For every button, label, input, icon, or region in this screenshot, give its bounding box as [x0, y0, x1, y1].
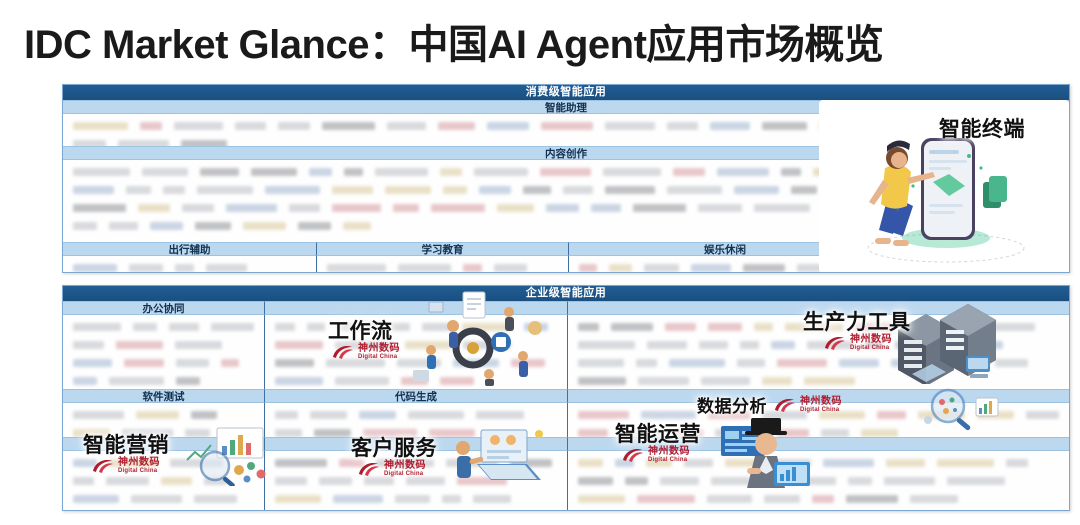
vendor-logo-placeholder [947, 477, 1005, 485]
vendor-logo-placeholder [781, 168, 801, 176]
vendor-logo-placeholder [846, 495, 898, 503]
vendor-logo-placeholder [821, 429, 849, 437]
vendor-logo-placeholder [278, 122, 310, 130]
consumer-column-education [317, 256, 569, 273]
vendor-logo-placeholder [615, 459, 634, 467]
vendor-logo-placeholder [494, 264, 527, 272]
vendor-logo-placeholder [109, 459, 158, 467]
vendor-logo-placeholder [524, 323, 548, 331]
vendor-logo-placeholder [737, 359, 765, 367]
vendor-logo-placeholder [440, 377, 474, 385]
vendor-logo-placeholder [136, 411, 179, 419]
enterprise-section-header: 企业级智能应用 [63, 286, 1069, 301]
vendor-logo-placeholder [807, 341, 853, 349]
vendor-logo-placeholder [133, 323, 157, 331]
enterprise-applications-panel: 企业级智能应用 办公协同 软件测试 代码生成 [62, 285, 1070, 511]
vendor-logo-placeholder [473, 495, 511, 503]
vendor-logo-placeholder [73, 411, 124, 419]
vendor-logo-placeholder [647, 341, 687, 349]
vendor-logo-placeholder [197, 186, 253, 194]
vendor-logo-placeholder [937, 459, 994, 467]
vendor-logo-placeholder [176, 359, 209, 367]
vendor-logo-placeholder [163, 186, 185, 194]
vendor-logo-placeholder [170, 459, 223, 467]
vendor-logo-placeholder [191, 411, 217, 419]
enterprise-row-3-logos [63, 451, 1069, 511]
vendor-logo-placeholder [431, 204, 485, 212]
vendor-logo-placeholder [646, 459, 672, 467]
vendor-logo-placeholder [243, 222, 286, 230]
vendor-logo-placeholder [363, 429, 417, 437]
vendor-logo-placeholder [804, 477, 836, 485]
vendor-logo-placeholder [309, 168, 332, 176]
consumer-band-travel: 出行辅助 [63, 242, 317, 256]
vendor-logo-placeholder [395, 495, 430, 503]
vendor-logo-placeholder [711, 477, 750, 485]
vendor-logo-placeholder [839, 359, 879, 367]
vendor-logo-placeholder [725, 459, 764, 467]
consumer-section-header: 消费级智能应用 [63, 85, 1069, 100]
vendor-logo-placeholder [674, 429, 703, 437]
vendor-logo-placeholder [776, 459, 811, 467]
vendor-logo-placeholder [977, 411, 1014, 419]
vendor-logo-placeholder [73, 377, 97, 385]
vendor-logo-placeholder [701, 377, 750, 385]
vendor-logo-placeholder [605, 122, 655, 130]
enterprise-band-software-testing: 软件测试 [63, 389, 265, 403]
vendor-logo-placeholder [476, 411, 524, 419]
vendor-logo-placeholder [109, 222, 138, 230]
vendor-logo-placeholder [438, 122, 475, 130]
vendor-logo-placeholder [910, 495, 958, 503]
vendor-logo-placeholder [762, 377, 792, 385]
vendor-logo-placeholder [1006, 459, 1028, 467]
vendor-logo-placeholder [326, 359, 385, 367]
enterprise-col-3-r1 [568, 315, 1069, 389]
vendor-logo-placeholder [633, 204, 686, 212]
vendor-logo-placeholder [660, 477, 699, 485]
vendor-logo-placeholder [708, 323, 742, 331]
vendor-logo-placeholder [73, 323, 121, 331]
vendor-logo-placeholder [116, 341, 163, 349]
vendor-logo-placeholder [625, 477, 648, 485]
vendor-logo-placeholder [463, 264, 482, 272]
vendor-logo-placeholder [578, 477, 613, 485]
vendor-logo-placeholder [298, 222, 331, 230]
vendor-logo-placeholder [385, 186, 431, 194]
vendor-logo-placeholder [641, 411, 696, 419]
vendor-logo-placeholder [812, 495, 834, 503]
vendor-logo-placeholder [73, 122, 128, 130]
vendor-logo-placeholder [393, 204, 419, 212]
enterprise-band-r1-c2 [265, 301, 568, 315]
vendor-logo-placeholder [886, 459, 925, 467]
vendor-logo-placeholder [406, 477, 445, 485]
vendor-logo-placeholder [138, 204, 170, 212]
vendor-logo-placeholder [73, 459, 97, 467]
vendor-logo-placeholder [73, 477, 94, 485]
vendor-logo-placeholder [579, 264, 597, 272]
vendor-logo-placeholder [453, 359, 499, 367]
vendor-logo-placeholder [387, 122, 426, 130]
vendor-logo-placeholder [275, 359, 314, 367]
vendor-logo-placeholder [457, 477, 507, 485]
vendor-logo-placeholder [176, 377, 200, 385]
vendor-logo-placeholder [804, 377, 855, 385]
vendor-logo-placeholder [638, 377, 689, 385]
vendor-logo-placeholder [563, 186, 593, 194]
vendor-logo-placeholder [307, 323, 325, 331]
vendor-logo-placeholder [73, 204, 126, 212]
vendor-logo-placeholder [510, 459, 552, 467]
page-title: IDC Market Glance：中国AI Agent应用市场概览 [24, 12, 1064, 70]
vendor-logo-placeholder [578, 341, 635, 349]
vendor-logo-placeholder [644, 264, 679, 272]
enterprise-band-r3-c1 [63, 437, 265, 451]
enterprise-row-1-logos [63, 315, 1069, 389]
vendor-logo-placeholder [950, 323, 978, 331]
vendor-logo-placeholder [150, 222, 183, 230]
vendor-logo-placeholder [359, 411, 396, 419]
vendor-logo-placeholder [578, 495, 625, 503]
vendor-logo-placeholder [398, 264, 451, 272]
vendor-logo-placeholder [442, 495, 461, 503]
vendor-logo-placeholder [142, 168, 188, 176]
vendor-logo-placeholder [905, 323, 938, 331]
vendor-logo-placeholder [401, 377, 428, 385]
vendor-logo-placeholder [337, 323, 378, 331]
vendor-logo-placeholder [541, 122, 593, 130]
vendor-logo-placeholder [185, 429, 210, 437]
vendor-logo-placeholder [620, 429, 662, 437]
enterprise-band-code-generation: 代码生成 [265, 389, 568, 403]
vendor-logo-placeholder [942, 359, 983, 367]
vendor-logo-placeholder [771, 341, 795, 349]
vendor-logo-placeholder [106, 477, 149, 485]
vendor-logo-placeholder [764, 495, 800, 503]
enterprise-band-r1-c3 [568, 301, 1069, 315]
vendor-logo-placeholder [73, 341, 104, 349]
vendor-logo-placeholder [251, 168, 297, 176]
vendor-logo-placeholder [1026, 411, 1059, 419]
vendor-logo-placeholder [124, 359, 164, 367]
vendor-logo-placeholder [669, 359, 725, 367]
vendor-logo-placeholder [397, 359, 441, 367]
vendor-logo-placeholder [578, 411, 629, 419]
vendor-logo-placeholder [181, 140, 227, 146]
vendor-logo-placeholder [891, 359, 930, 367]
vendor-logo-placeholder [446, 459, 498, 467]
vendor-logo-placeholder [443, 186, 467, 194]
vendor-logo-placeholder [479, 186, 511, 194]
enterprise-col-2-r2 [265, 403, 568, 437]
vendor-logo-placeholder [289, 204, 320, 212]
vendor-logo-placeholder [578, 429, 608, 437]
vendor-logo-placeholder [474, 168, 528, 176]
enterprise-band-row-1: 办公协同 [63, 301, 1069, 315]
vendor-logo-placeholder [375, 168, 428, 176]
vendor-logo-placeholder [463, 341, 511, 349]
vendor-logo-placeholder [310, 411, 347, 419]
enterprise-row-2-logos [63, 403, 1069, 437]
vendor-logo-placeholder [73, 168, 130, 176]
vendor-logo-placeholder [226, 204, 277, 212]
vendor-logo-placeholder [848, 477, 872, 485]
enterprise-col-2-r3 [265, 451, 568, 511]
vendor-logo-placeholder [462, 323, 512, 331]
vendor-logo-placeholder [609, 264, 632, 272]
vendor-logo-placeholder [235, 122, 266, 130]
vendor-logo-placeholder [327, 264, 386, 272]
vendor-logo-placeholder [591, 204, 621, 212]
consumer-applications-panel: 消费级智能应用 智能助理 内容创作 出行辅助 学习教育 娱乐休闲 [62, 84, 1070, 273]
vendor-logo-placeholder [578, 323, 599, 331]
vendor-logo-placeholder [855, 323, 893, 331]
vendor-logo-placeholder [275, 429, 302, 437]
vendor-logo-placeholder [343, 222, 371, 230]
vendor-logo-placeholder [637, 495, 695, 503]
vendor-logo-placeholder [200, 168, 239, 176]
vendor-logo-placeholder [578, 359, 624, 367]
vendor-logo-placeholder [376, 459, 434, 467]
vendor-logo-placeholder [708, 411, 750, 419]
vendor-logo-placeholder [667, 122, 698, 130]
vendor-logo-placeholder [221, 359, 239, 367]
vendor-logo-placeholder [73, 186, 114, 194]
enterprise-col-1-r2 [63, 403, 265, 437]
vendor-logo-placeholder [122, 429, 173, 437]
vendor-logo-placeholder [673, 168, 705, 176]
vendor-logo-placeholder [118, 140, 169, 146]
vendor-logo-placeholder [73, 140, 106, 146]
vendor-logo-placeholder [762, 477, 792, 485]
vendor-logo-placeholder [990, 323, 1035, 331]
vendor-logo-placeholder [335, 377, 389, 385]
vendor-logo-placeholder [762, 122, 807, 130]
vendor-logo-placeholder [314, 429, 351, 437]
vendor-logo-placeholder [995, 359, 1028, 367]
vendor-logo-placeholder [546, 204, 579, 212]
vendor-logo-placeholder [206, 264, 247, 272]
vendor-logo-placeholder [603, 168, 661, 176]
vendor-logo-placeholder [605, 186, 655, 194]
vendor-logo-placeholder [707, 495, 752, 503]
vendor-logo-placeholder [762, 411, 807, 419]
vendor-logo-placeholder [275, 377, 323, 385]
vendor-logo-placeholder [877, 411, 906, 419]
vendor-logo-placeholder [174, 122, 223, 130]
vendor-logo-placeholder [918, 411, 965, 419]
vendor-logo-placeholder [194, 495, 237, 503]
vendor-logo-placeholder [332, 204, 381, 212]
vendor-logo-placeholder [740, 341, 759, 349]
vendor-logo-placeholder [715, 429, 765, 437]
vendor-logo-placeholder [684, 459, 713, 467]
vendor-logo-placeholder [819, 411, 865, 419]
vendor-logo-placeholder [429, 429, 475, 437]
vendor-logo-placeholder [942, 341, 966, 349]
vendor-logo-placeholder [540, 168, 591, 176]
enterprise-col-3-r2 [568, 403, 1069, 437]
vendor-logo-placeholder [109, 377, 164, 385]
vendor-logo-placeholder [405, 341, 451, 349]
vendor-logo-placeholder [777, 429, 809, 437]
vendor-logo-placeholder [175, 264, 194, 272]
vendor-logo-placeholder [335, 341, 393, 349]
vendor-logo-placeholder [169, 323, 199, 331]
vendor-logo-placeholder [578, 459, 603, 467]
vendor-logo-placeholder [636, 359, 657, 367]
vendor-logo-placeholder [332, 186, 373, 194]
vendor-logo-placeholder [777, 359, 827, 367]
vendor-logo-placeholder [861, 429, 898, 437]
vendor-logo-placeholder [743, 264, 785, 272]
vendor-logo-placeholder [265, 186, 320, 194]
vendor-logo-placeholder [129, 264, 163, 272]
vendor-logo-placeholder [140, 122, 162, 130]
vendor-logo-placeholder [691, 264, 731, 272]
vendor-logo-placeholder [339, 459, 364, 467]
vendor-logo-placeholder [698, 204, 742, 212]
vendor-logo-placeholder [319, 477, 352, 485]
vendor-logo-placeholder [275, 411, 298, 419]
vendor-logo-placeholder [823, 459, 874, 467]
vendor-logo-placeholder [523, 186, 551, 194]
vendor-logo-placeholder [390, 323, 410, 331]
enterprise-band-office-collab: 办公协同 [63, 301, 265, 315]
vendor-logo-placeholder [73, 359, 112, 367]
vendor-logo-placeholder [195, 222, 231, 230]
vendor-logo-placeholder [131, 495, 182, 503]
vendor-logo-placeholder [440, 168, 462, 176]
enterprise-col-1-r1 [63, 315, 265, 389]
vendor-logo-placeholder [734, 186, 779, 194]
vendor-logo-placeholder [275, 495, 321, 503]
vendor-logo-placeholder [211, 323, 254, 331]
vendor-logo-placeholder [497, 204, 534, 212]
vendor-logo-placeholder [487, 122, 529, 130]
vendor-logo-placeholder [710, 122, 750, 130]
vendor-logo-placeholder [865, 341, 883, 349]
vendor-logo-placeholder [511, 359, 545, 367]
vendor-logo-placeholder [791, 186, 817, 194]
vendor-logo-placeholder [161, 477, 192, 485]
vendor-logo-placeholder [578, 377, 626, 385]
vendor-logo-placeholder [717, 168, 769, 176]
enterprise-band-r3-c2 [265, 437, 568, 451]
vendor-logo-placeholder [275, 341, 323, 349]
vendor-logo-placeholder [73, 429, 110, 437]
vendor-logo-placeholder [611, 323, 653, 331]
vendor-logo-placeholder [667, 186, 722, 194]
vendor-logo-placeholder [73, 495, 119, 503]
enterprise-col-2-r1 [265, 315, 568, 389]
vendor-logo-placeholder [754, 204, 810, 212]
enterprise-band-row-2: 软件测试 代码生成 [63, 389, 1069, 403]
enterprise-band-r2-c3 [568, 389, 1069, 403]
vendor-logo-placeholder [275, 323, 295, 331]
enterprise-band-r3-c3 [568, 437, 1069, 451]
vendor-logo-placeholder [182, 204, 214, 212]
vendor-logo-placeholder [978, 341, 1003, 349]
vendor-logo-placeholder [175, 341, 222, 349]
vendor-logo-placeholder [275, 459, 327, 467]
enterprise-band-row-3 [63, 437, 1069, 451]
consumer-column-travel [63, 256, 317, 273]
smart-terminal-card [819, 100, 1069, 273]
vendor-logo-placeholder [665, 323, 696, 331]
vendor-logo-placeholder [408, 411, 464, 419]
vendor-logo-placeholder [333, 495, 383, 503]
enterprise-col-1-r3 [63, 451, 265, 511]
enterprise-col-3-r3 [568, 451, 1069, 511]
vendor-logo-placeholder [895, 341, 930, 349]
vendor-logo-placeholder [344, 168, 363, 176]
vendor-logo-placeholder [754, 323, 773, 331]
vendor-logo-placeholder [422, 323, 450, 331]
vendor-logo-placeholder [204, 477, 227, 485]
vendor-logo-placeholder [364, 477, 394, 485]
vendor-logo-placeholder [275, 477, 307, 485]
vendor-logo-placeholder [73, 264, 117, 272]
vendor-logo-placeholder [785, 323, 843, 331]
vendor-logo-placeholder [73, 222, 97, 230]
vendor-logo-placeholder [322, 122, 375, 130]
vendor-logo-placeholder [126, 186, 151, 194]
consumer-band-education: 学习教育 [317, 242, 569, 256]
vendor-logo-placeholder [699, 341, 728, 349]
vendor-logo-placeholder [884, 477, 935, 485]
